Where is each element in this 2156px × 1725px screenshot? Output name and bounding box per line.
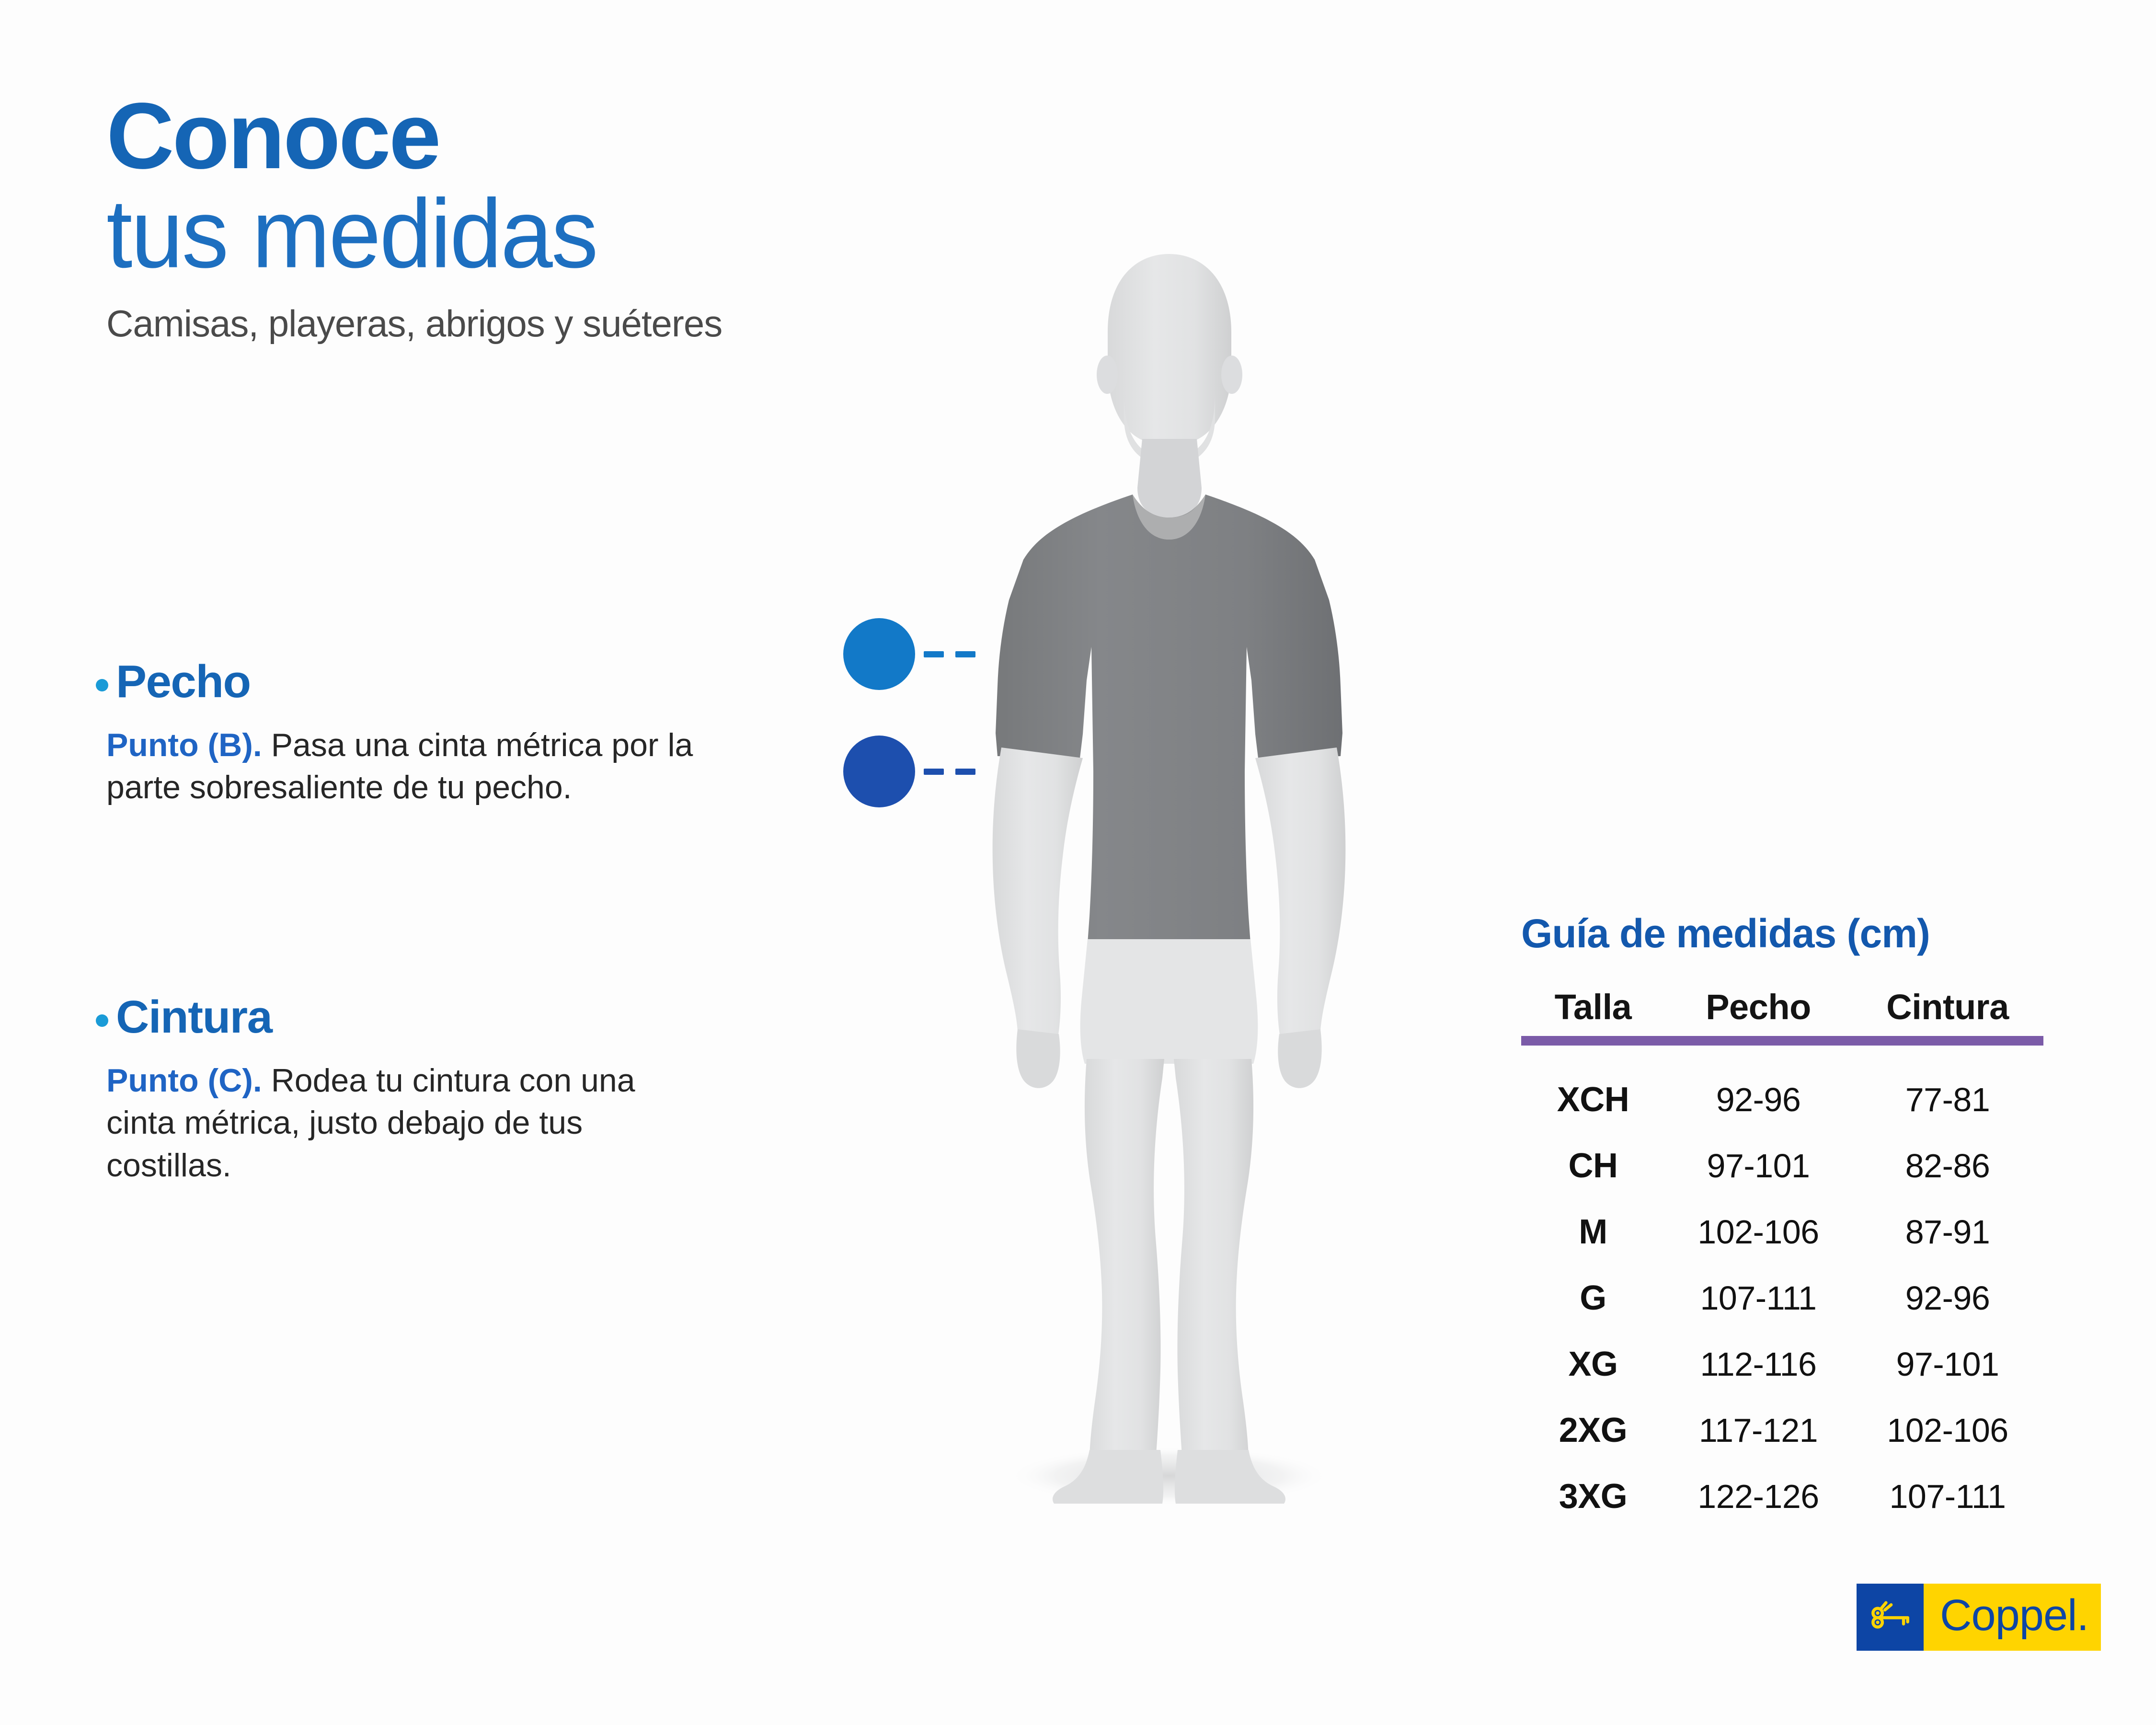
bullet-dot-icon — [96, 679, 108, 691]
page-title-block: Conoce tus medidas Camisas, playeras, ab… — [106, 91, 921, 345]
size-guide-page: Conoce tus medidas Camisas, playeras, ab… — [0, 0, 2156, 1725]
size-table-body: XCH92-9677-81CH97-10182-86M102-10687-91G… — [1521, 1067, 2043, 1529]
cell-cintura: 87-91 — [1852, 1199, 2043, 1265]
measurement-point-label-pecho: Punto (B). — [106, 727, 262, 763]
size-table: Talla Pecho Cintura XCH92-9677-81CH97-10… — [1521, 987, 2043, 1529]
coppel-logo-mark — [1857, 1584, 1924, 1651]
cell-talla: M — [1521, 1199, 1665, 1265]
mannequin-svg — [939, 249, 1399, 1543]
dash-segment — [955, 769, 975, 775]
cell-cintura: 82-86 — [1852, 1133, 2043, 1199]
callout-dot-cintura-icon — [843, 736, 915, 807]
figure-head — [1097, 254, 1242, 517]
cell-pecho: 97-101 — [1665, 1133, 1852, 1199]
table-row: CH97-10182-86 — [1521, 1133, 2043, 1199]
table-row: XCH92-9677-81 — [1521, 1067, 2043, 1133]
size-table-header-row: Talla Pecho Cintura — [1521, 987, 2043, 1036]
cell-pecho: 102-106 — [1665, 1199, 1852, 1265]
cell-cintura: 97-101 — [1852, 1331, 2043, 1397]
table-row: 2XG117-121102-106 — [1521, 1397, 2043, 1463]
cell-pecho: 122-126 — [1665, 1463, 1852, 1529]
size-table-header-rule — [1521, 1036, 2043, 1067]
cell-cintura: 92-96 — [1852, 1265, 2043, 1331]
column-header-talla: Talla — [1521, 987, 1665, 1036]
measurement-title-cintura: Cintura — [116, 994, 272, 1040]
bullet-dot-icon — [96, 1014, 108, 1027]
callout-marker-cintura — [843, 736, 975, 807]
size-table-head: Talla Pecho Cintura — [1521, 987, 2043, 1067]
cell-pecho: 107-111 — [1665, 1265, 1852, 1331]
table-row: M102-10687-91 — [1521, 1199, 2043, 1265]
page-title-primary: Conoce — [106, 91, 921, 181]
table-row: XG112-11697-101 — [1521, 1331, 2043, 1397]
callout-dot-pecho-icon — [843, 618, 915, 690]
figure-hips — [1080, 939, 1258, 1064]
coppel-logo-wordmark: Coppel. — [1924, 1584, 2101, 1651]
cell-talla: CH — [1521, 1133, 1665, 1199]
column-header-cintura: Cintura — [1852, 987, 2043, 1036]
cell-cintura: 107-111 — [1852, 1463, 2043, 1529]
page-subtitle: Camisas, playeras, abrigos y suéteres — [106, 302, 921, 345]
cell-talla: 3XG — [1521, 1463, 1665, 1529]
cell-talla: XCH — [1521, 1067, 1665, 1133]
cell-cintura: 77-81 — [1852, 1067, 2043, 1133]
cell-talla: G — [1521, 1265, 1665, 1331]
header-underline-bar — [1521, 1036, 2043, 1046]
measurement-section-pecho: Pecho Punto (B). Pasa una cinta métrica … — [96, 659, 776, 809]
cell-pecho: 117-121 — [1665, 1397, 1852, 1463]
body-figure-illustration — [939, 249, 1399, 1543]
dash-segment — [924, 651, 944, 657]
callout-dash-line-cintura — [924, 769, 975, 775]
column-header-pecho: Pecho — [1665, 987, 1852, 1036]
callout-dash-line-pecho — [924, 651, 975, 657]
cell-talla: XG — [1521, 1331, 1665, 1397]
size-table-block: Guía de medidas (cm) Talla Pecho Cintura… — [1521, 910, 2058, 1529]
cell-cintura: 102-106 — [1852, 1397, 2043, 1463]
figure-legs — [1053, 1059, 1285, 1504]
cell-pecho: 112-116 — [1665, 1331, 1852, 1397]
cell-talla: 2XG — [1521, 1397, 1665, 1463]
page-title-secondary: tus medidas — [106, 184, 921, 284]
dash-segment — [924, 769, 944, 775]
callout-marker-pecho — [843, 618, 975, 690]
measurement-section-cintura: Cintura Punto (C). Rodea tu cintura con … — [96, 994, 776, 1186]
measurement-point-label-cintura: Punto (C). — [106, 1062, 262, 1099]
coppel-brand-name: Coppel. — [1940, 1593, 2088, 1637]
measurement-heading-pecho: Pecho — [96, 659, 776, 705]
key-icon — [1864, 1591, 1916, 1643]
measurement-description-cintura: Punto (C). Rodea tu cintura con una cint… — [96, 1059, 705, 1186]
measurement-title-pecho: Pecho — [116, 659, 251, 705]
measurement-description-pecho: Punto (B). Pasa una cinta métrica por la… — [96, 724, 705, 809]
measurement-heading-cintura: Cintura — [96, 994, 776, 1040]
table-row: G107-11192-96 — [1521, 1265, 2043, 1331]
coppel-logo[interactable]: Coppel. — [1857, 1584, 2101, 1651]
cell-pecho: 92-96 — [1665, 1067, 1852, 1133]
table-row: 3XG122-126107-111 — [1521, 1463, 2043, 1529]
dash-segment — [955, 651, 975, 657]
size-table-title: Guía de medidas (cm) — [1521, 910, 2058, 957]
